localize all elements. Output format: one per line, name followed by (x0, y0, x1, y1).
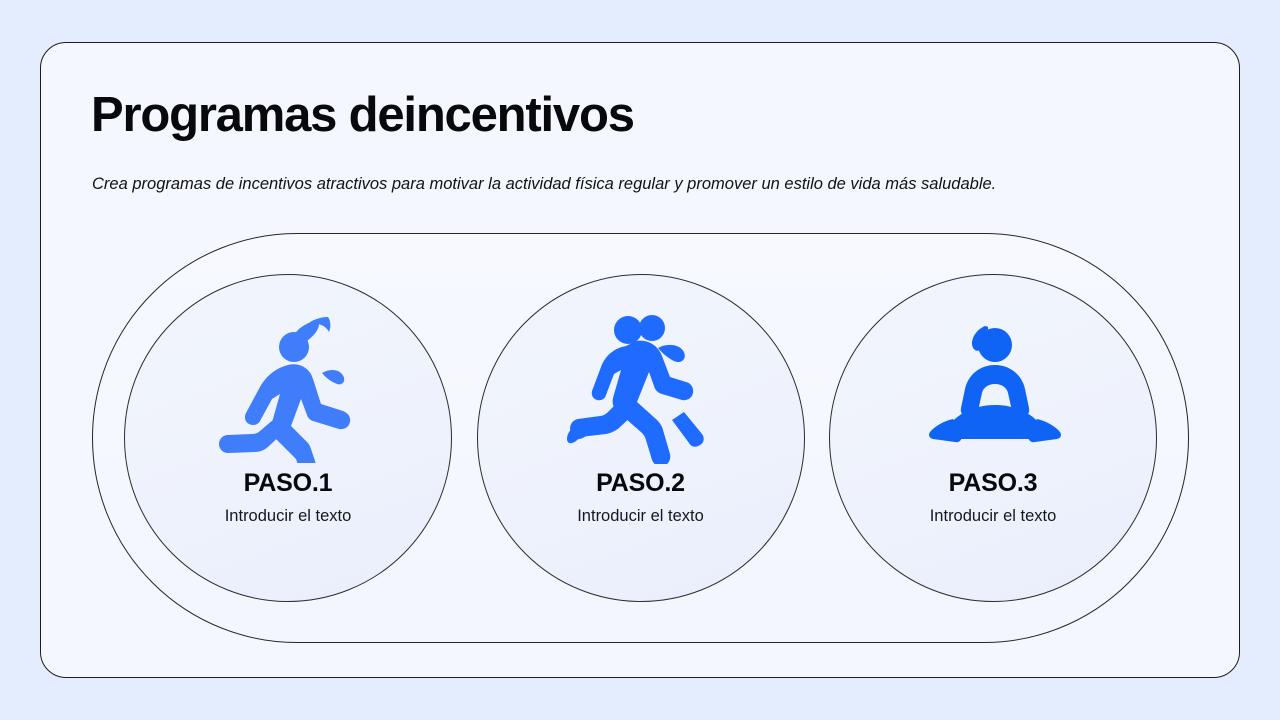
step-circle-3[interactable]: PASO.3 Introducir el texto (829, 274, 1157, 602)
step-circle-2[interactable]: PASO.2 Introducir el texto (477, 274, 805, 602)
step-description-3: Introducir el texto (930, 507, 1057, 526)
page-title: Programas deincentivos (91, 87, 634, 143)
yoga-meditation-icon (923, 313, 1063, 465)
page-subtitle: Crea programas de incentivos atractivos … (92, 175, 996, 194)
step-label-2: PASO.2 (596, 469, 685, 498)
step-circle-1[interactable]: PASO.1 Introducir el texto (124, 274, 452, 602)
step-description-1: Introducir el texto (225, 507, 352, 526)
basketball-dunk-icon (566, 313, 716, 465)
step-label-1: PASO.1 (244, 469, 333, 498)
step-label-3: PASO.3 (949, 469, 1038, 498)
slide-card: Programas deincentivos Crea programas de… (40, 42, 1240, 678)
running-person-icon (218, 313, 358, 465)
step-description-2: Introducir el texto (577, 507, 704, 526)
steps-list: PASO.1 Introducir el texto (92, 233, 1189, 643)
